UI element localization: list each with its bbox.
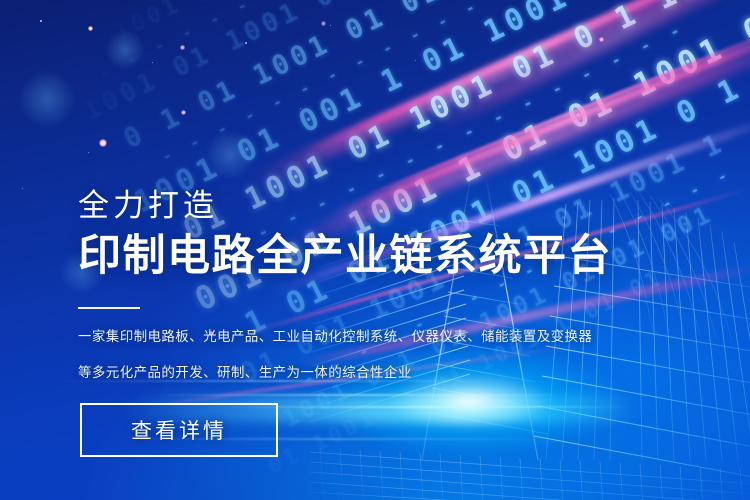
horizon-streak [230, 406, 630, 408]
view-details-button[interactable]: 查看详情 [80, 403, 278, 457]
eyebrow-text: 全力打造 [78, 190, 638, 221]
title-divider [78, 307, 140, 309]
page-title: 印制电路全产业链系统平台 [78, 235, 638, 278]
hero-banner: 01 1001 01 1001 0 1 01001 1 01 - - - - -… [0, 0, 750, 500]
hero-copy: 全力打造 印制电路全产业链系统平台 一家集印制电路板、光电产品、工业自动化控制系… [78, 190, 638, 398]
description-line-2: 等多元化产品的开发、研制、生产为一体的综合性企业 [78, 361, 638, 384]
description-line-1: 一家集印制电路板、光电产品、工业自动化控制系统、仪器仪表、储能装置及变换器 [78, 325, 638, 348]
